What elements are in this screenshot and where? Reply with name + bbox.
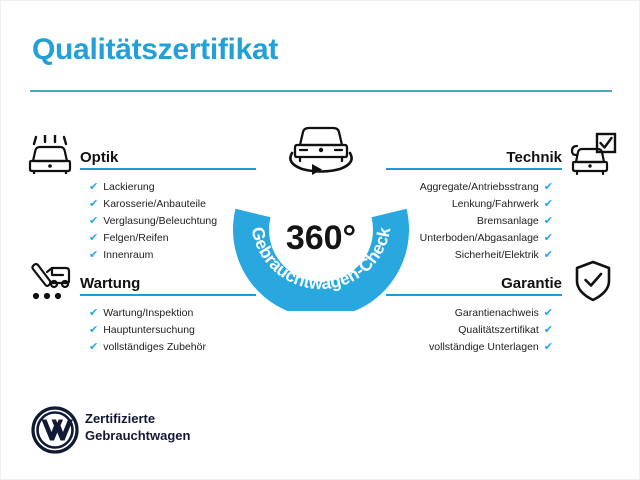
check-icon: ✔ xyxy=(544,196,553,213)
list-item: vollständige Unterlagen✔ xyxy=(386,339,553,356)
car-shine-icon xyxy=(27,135,73,182)
list-item-label: Karosserie/Anbauteile xyxy=(103,196,206,213)
list-item-label: Wartung/Inspektion xyxy=(103,305,193,322)
section-garantie-title: Garantie xyxy=(501,275,562,292)
list-item: ✔Felgen/Reifen xyxy=(89,230,256,247)
section-garantie-underline xyxy=(386,294,562,296)
list-item: Lenkung/Fahrwerk✔ xyxy=(386,196,553,213)
list-item: Bremsanlage✔ xyxy=(386,213,553,230)
list-item: ✔Karosserie/Anbauteile xyxy=(89,196,256,213)
check-icon: ✔ xyxy=(89,196,98,213)
certificate-page: Qualitätszertifikat xyxy=(0,0,640,480)
footer-line-2: Gebrauchtwagen xyxy=(85,427,190,444)
footer-brand-text: Zertifizierte Gebrauchtwagen xyxy=(85,410,190,444)
section-garantie-header: Garantie xyxy=(386,270,562,296)
section-optik-items: ✔Lackierung ✔Karosserie/Anbauteile ✔Verg… xyxy=(80,179,256,264)
section-technik: Technik Aggregate/Antriebsstrang✔ Lenkun… xyxy=(386,144,562,264)
check-icon: ✔ xyxy=(89,339,98,356)
section-optik: Optik ✔Lackierung ✔Karosserie/Anbauteile… xyxy=(80,144,256,264)
list-item: Qualitätszertifikat✔ xyxy=(386,322,553,339)
list-item-label: Lackierung xyxy=(103,179,154,196)
check-icon: ✔ xyxy=(544,322,553,339)
footer-line-1: Zertifizierte xyxy=(85,410,190,427)
vw-logo xyxy=(31,406,79,459)
section-technik-header: Technik xyxy=(386,144,562,170)
check-icon: ✔ xyxy=(89,230,98,247)
list-item: ✔Wartung/Inspektion xyxy=(89,305,256,322)
check-icon: ✔ xyxy=(544,339,553,356)
list-item-label: Lenkung/Fahrwerk xyxy=(452,196,539,213)
list-item-label: vollständiges Zubehör xyxy=(103,339,206,356)
section-garantie: Garantie Garantienachweis✔ Qualitätszert… xyxy=(386,270,562,356)
check-icon: ✔ xyxy=(544,247,553,264)
list-item-label: Bremsanlage xyxy=(477,213,539,230)
list-item: ✔Hauptuntersuchung xyxy=(89,322,256,339)
section-optik-header: Optik xyxy=(80,144,256,170)
list-item: Sicherheit/Elektrik✔ xyxy=(386,247,553,264)
check-icon: ✔ xyxy=(89,213,98,230)
list-item-label: Verglasung/Beleuchtung xyxy=(103,213,217,230)
list-item: ✔vollständiges Zubehör xyxy=(89,339,256,356)
check-icon: ✔ xyxy=(89,247,98,264)
list-item-label: Innenraum xyxy=(103,247,153,264)
list-item: Garantienachweis✔ xyxy=(386,305,553,322)
list-item-label: Aggregate/Antriebsstrang xyxy=(420,179,539,196)
check-icon: ✔ xyxy=(544,179,553,196)
section-optik-title: Optik xyxy=(80,149,118,166)
section-wartung: Wartung ✔Wartung/Inspektion ✔Hauptunters… xyxy=(80,270,256,356)
car-service-wrench-icon xyxy=(27,261,73,308)
check-icon: ✔ xyxy=(544,305,553,322)
list-item: Aggregate/Antriebsstrang✔ xyxy=(386,179,553,196)
section-optik-underline xyxy=(80,168,256,170)
badge-center-label: 360° xyxy=(233,219,409,258)
section-garantie-items: Garantienachweis✔ Qualitätszertifikat✔ v… xyxy=(386,305,562,356)
car-checkbox-icon xyxy=(569,132,617,181)
list-item: ✔Innenraum xyxy=(89,247,256,264)
title-divider xyxy=(30,90,612,92)
check-icon: ✔ xyxy=(89,179,98,196)
check-icon: ✔ xyxy=(89,305,98,322)
list-item: Unterboden/Abgasanlage✔ xyxy=(386,230,553,247)
badge-360-gebrauchtwagen-check: Gebrauchtwagen-Check 360° xyxy=(233,161,409,311)
list-item-label: vollständige Unterlagen xyxy=(429,339,539,356)
section-wartung-items: ✔Wartung/Inspektion ✔Hauptuntersuchung ✔… xyxy=(80,305,256,356)
list-item-label: Garantienachweis xyxy=(455,305,539,322)
check-icon: ✔ xyxy=(89,322,98,339)
section-technik-underline xyxy=(386,168,562,170)
check-icon: ✔ xyxy=(544,230,553,247)
check-icon: ✔ xyxy=(544,213,553,230)
section-wartung-header: Wartung xyxy=(80,270,256,296)
list-item-label: Hauptuntersuchung xyxy=(103,322,195,339)
section-wartung-underline xyxy=(80,294,256,296)
section-wartung-title: Wartung xyxy=(80,275,140,292)
section-technik-title: Technik xyxy=(506,149,562,166)
page-title: Qualitätszertifikat xyxy=(32,33,278,67)
list-item: ✔Lackierung xyxy=(89,179,256,196)
list-item: ✔Verglasung/Beleuchtung xyxy=(89,213,256,230)
list-item-label: Unterboden/Abgasanlage xyxy=(420,230,539,247)
shield-check-icon xyxy=(573,259,613,308)
list-item-label: Sicherheit/Elektrik xyxy=(455,247,539,264)
list-item-label: Qualitätszertifikat xyxy=(458,322,539,339)
list-item-label: Felgen/Reifen xyxy=(103,230,168,247)
section-technik-items: Aggregate/Antriebsstrang✔ Lenkung/Fahrwe… xyxy=(386,179,562,264)
